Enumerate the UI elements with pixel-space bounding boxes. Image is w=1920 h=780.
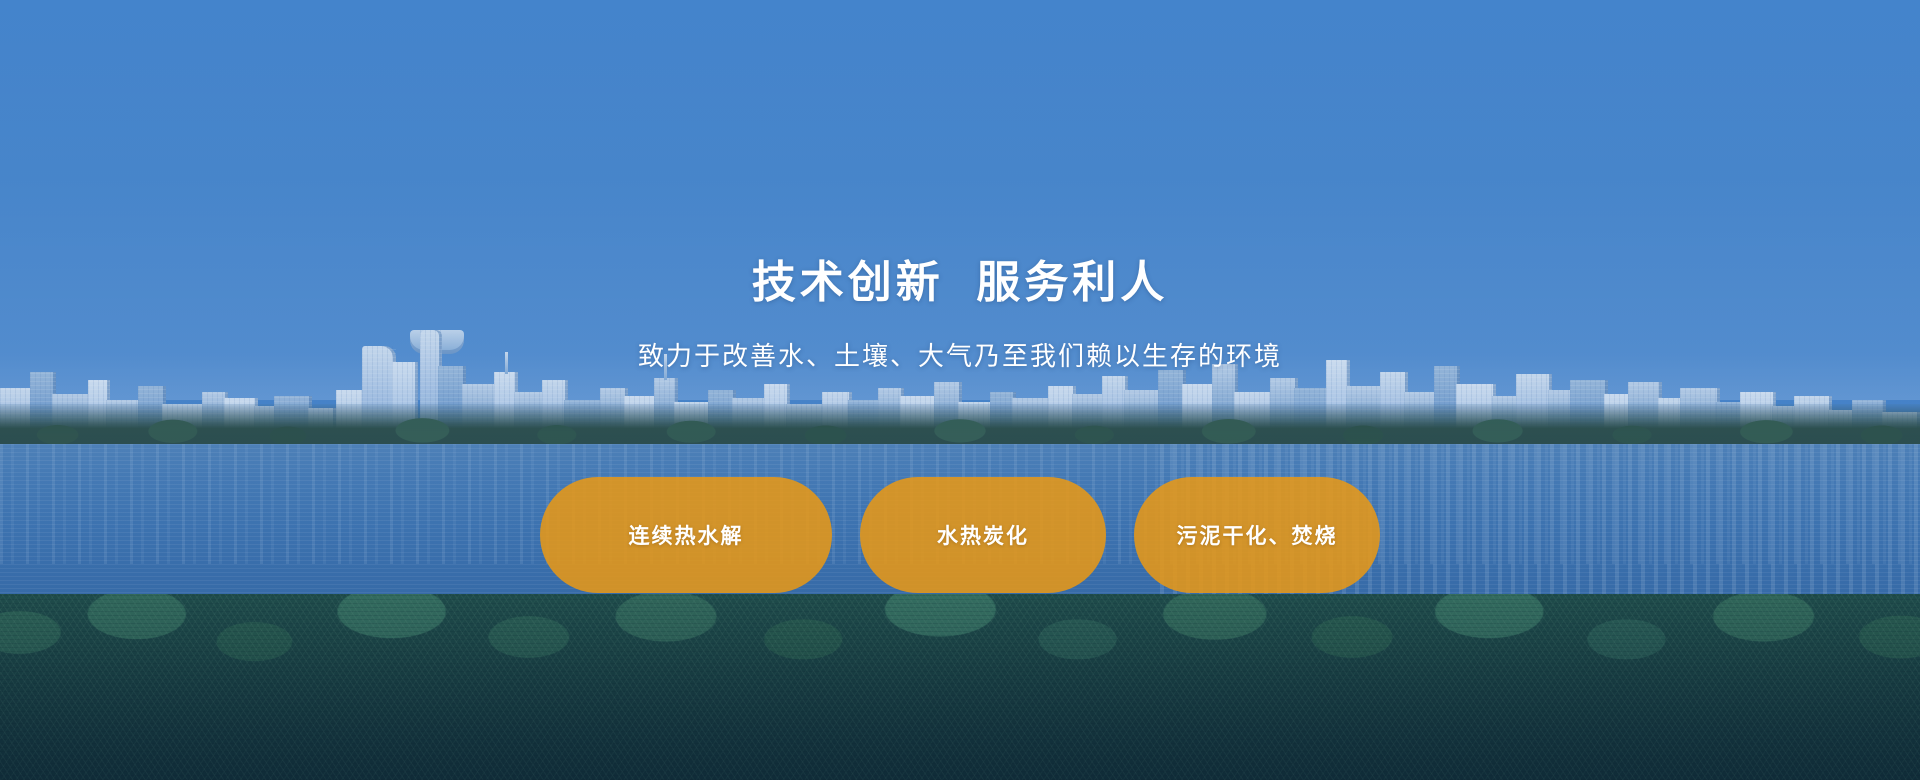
foreground-vegetation	[0, 594, 1920, 780]
far-tree-belt	[0, 404, 1920, 448]
cta-button-continuous-thermal-hydrolysis[interactable]: 连续热水解	[540, 477, 832, 593]
vegetation-shade	[0, 594, 1920, 780]
cta-button-row: 连续热水解 水热炭化 污泥干化、焚烧	[0, 477, 1920, 593]
hero-banner: 技术创新 服务利人 致力于改善水、土壤、大气乃至我们赖以生存的环境 连续热水解 …	[0, 0, 1920, 780]
page-title: 技术创新 服务利人	[0, 258, 1920, 309]
cta-button-sludge-drying-incineration[interactable]: 污泥干化、焚烧	[1134, 477, 1380, 593]
cta-button-hydrothermal-carbonization[interactable]: 水热炭化	[860, 477, 1106, 593]
hero-subtitle: 致力于改善水、土壤、大气乃至我们赖以生存的环境	[0, 340, 1920, 374]
